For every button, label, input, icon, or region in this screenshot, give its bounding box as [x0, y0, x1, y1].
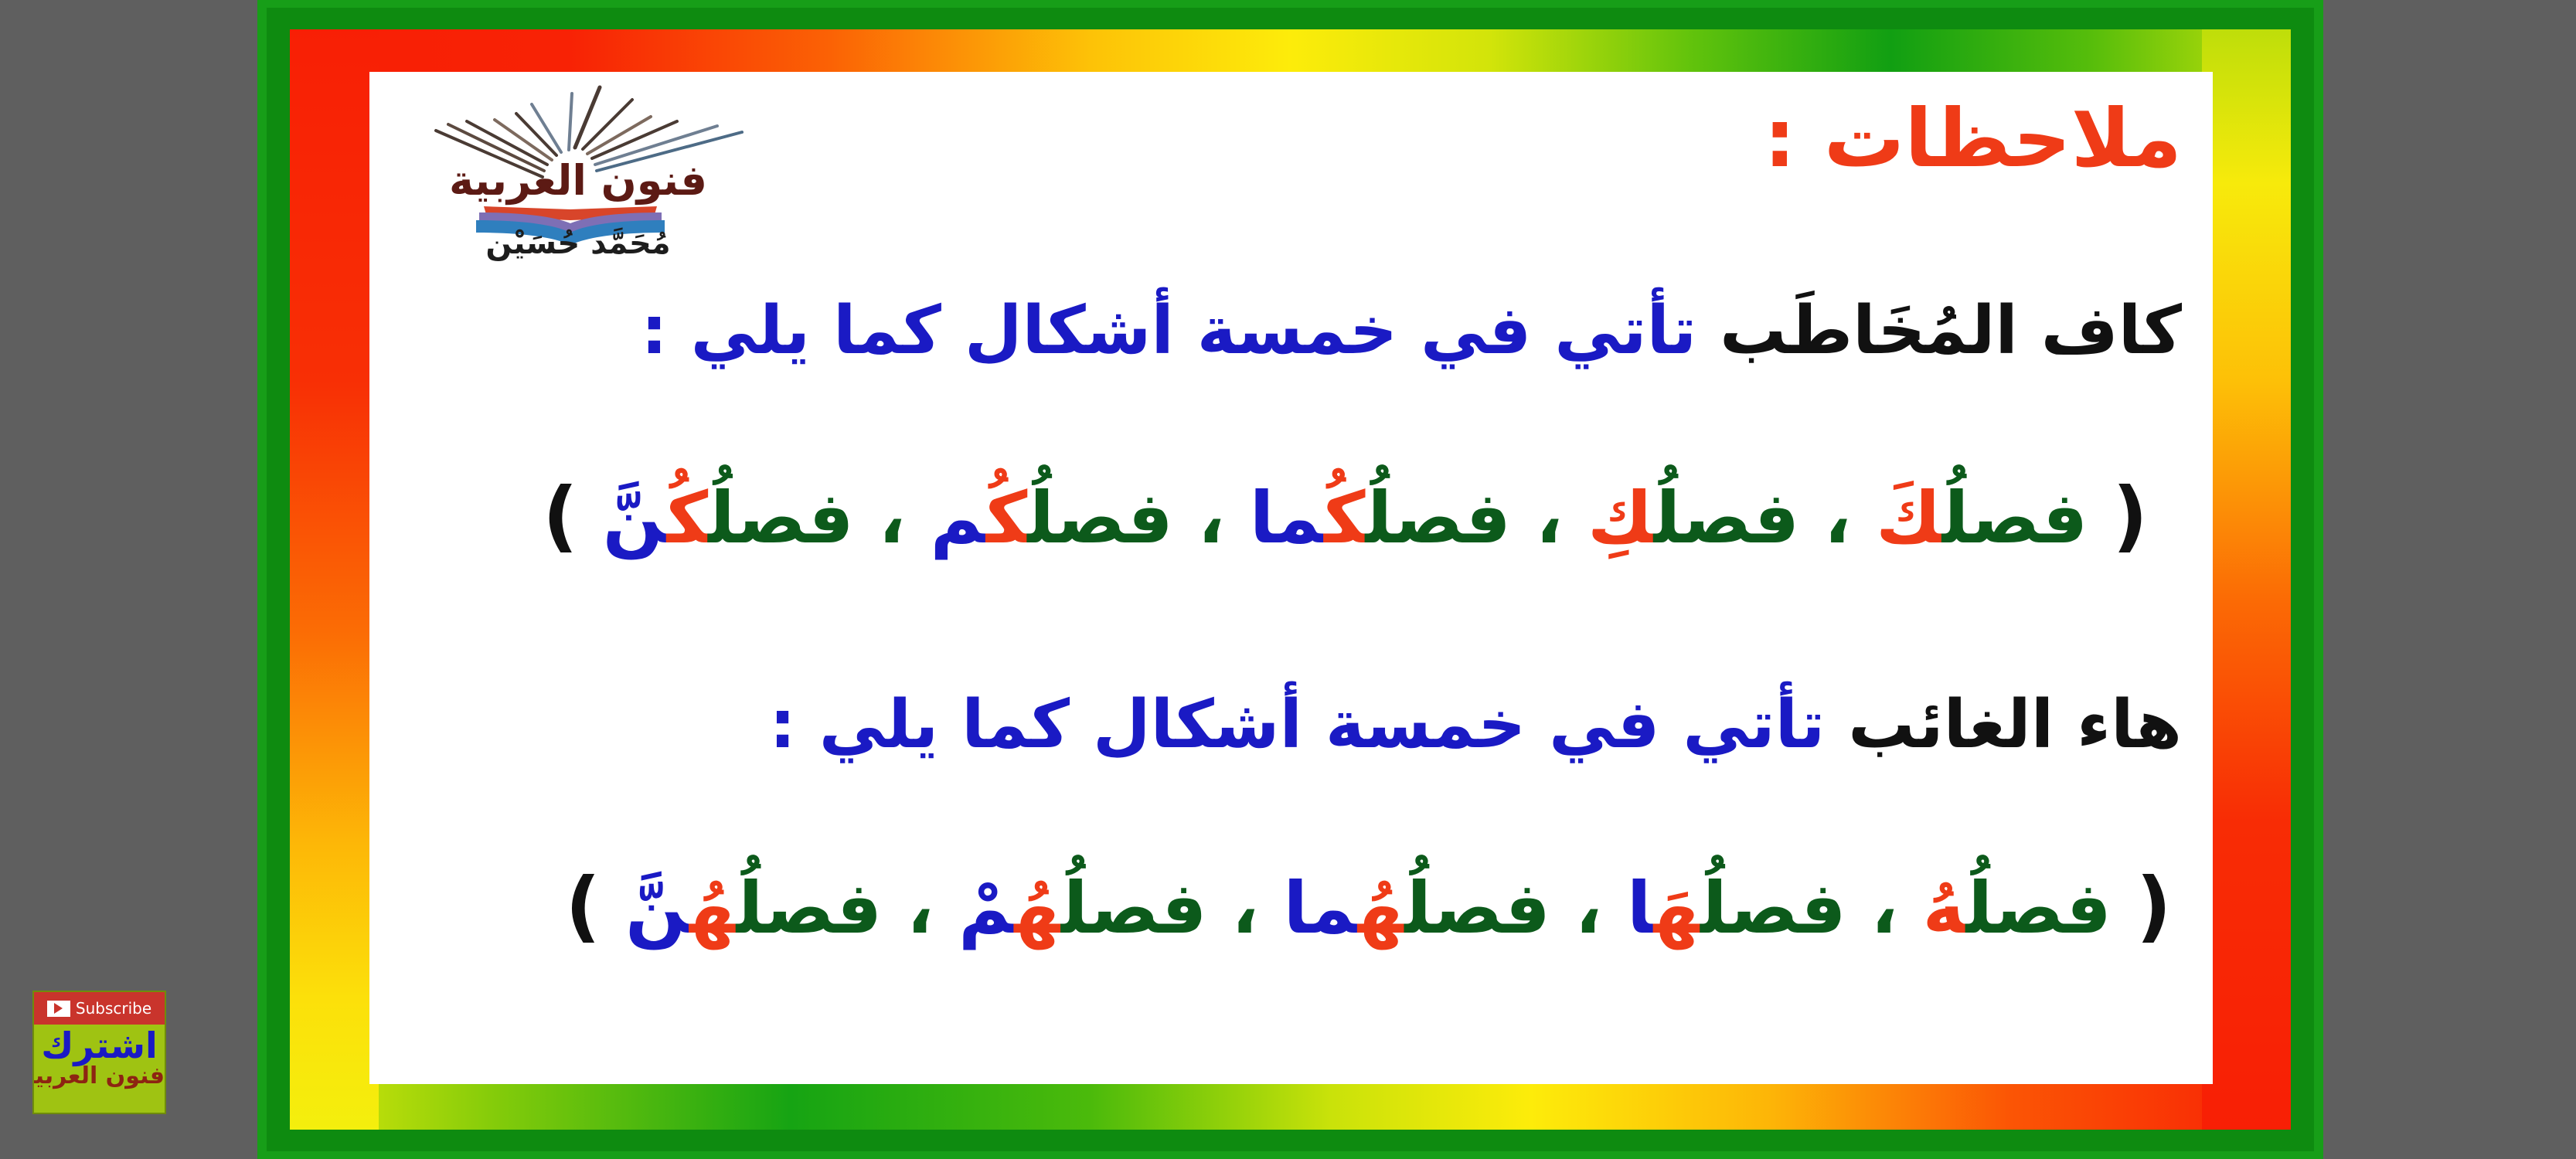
subscribe-header[interactable]: Subscribe	[34, 992, 165, 1025]
example-suffix: هُ	[689, 867, 737, 950]
examples-line-kaf: ( فصلُكَ ، فصلُكِ ، فصلُكُما ، فصلُكُم ،…	[509, 474, 2182, 559]
subscribe-badge[interactable]: Subscribe اشترك فنون العربية	[32, 991, 166, 1114]
page-title: ملاحظات :	[1764, 97, 2182, 181]
example-item: فصلُهُنَّ	[625, 867, 882, 950]
example-suffix: هَ	[1653, 867, 1700, 950]
gradient-band-right	[2202, 29, 2291, 1130]
example-suffix: هُ	[1358, 867, 1405, 950]
subscribe-arabic-label: اشترك	[34, 1028, 165, 1063]
example-tail: ما	[1283, 867, 1357, 950]
examples-line-haa: ( فصلُهُ ، فصلُهَا ، فصلُهُما ، فصلُهُمْ…	[555, 864, 2182, 949]
rule-line-kaf: كاف المُخَاطَب تأتي في خمسة أشكال كما يل…	[641, 294, 2182, 368]
example-suffix: كُ	[1324, 477, 1366, 559]
example-tail: م	[931, 477, 986, 559]
example-stem: فصلُ	[737, 867, 882, 950]
example-item: فصلُهُ	[1923, 867, 2112, 950]
example-item: فصلُهُمْ	[958, 867, 1206, 950]
example-tail: مْ	[958, 867, 1014, 950]
example-suffix: كِ	[1587, 477, 1654, 559]
example-stem: فصلُ	[1654, 477, 1799, 559]
brand-author-text: مُحَمَّد حُسَيْن	[393, 228, 764, 259]
example-separator: ،	[1824, 477, 1851, 559]
example-separator: ،	[1198, 477, 1225, 559]
example-suffix: كَ	[1876, 477, 1942, 559]
example-separator: ،	[907, 867, 934, 950]
rule-subject-haa: هاء الغائب	[1848, 686, 2182, 763]
sunburst-book-icon	[393, 76, 764, 285]
example-suffix: كُ	[667, 477, 709, 559]
example-tail: ا	[1627, 867, 1654, 950]
example-separator: ،	[1231, 867, 1258, 950]
example-item: فصلُكَ	[1876, 477, 2088, 559]
example-stem: فصلُ	[1700, 867, 1846, 950]
gradient-band-left	[290, 29, 379, 1130]
close-paren-kaf: )	[543, 471, 578, 561]
example-item: فصلُكِ	[1587, 477, 1799, 559]
example-separator: ،	[1871, 867, 1898, 950]
close-paren-haa: )	[565, 861, 601, 951]
example-suffix: كُ	[986, 477, 1028, 559]
example-separator: ،	[879, 477, 906, 559]
rule-subject-kaf: كاف المُخَاطَب	[1720, 292, 2182, 369]
example-separator: ،	[1536, 477, 1563, 559]
example-item: فصلُكُما	[1250, 477, 1511, 559]
example-separator: ،	[1575, 867, 1602, 950]
slide-stage: فنون العربية مُحَمَّد حُسَيْن ملاحظات : …	[0, 0, 2576, 1159]
subscribe-brand-label: فنون العربية	[34, 1065, 165, 1088]
example-suffix: هُ	[1014, 867, 1061, 950]
subscribe-english-label: Subscribe	[76, 999, 151, 1018]
example-item: فصلُهُما	[1283, 867, 1550, 950]
rule-line-haa: هاء الغائب تأتي في خمسة أشكال كما يلي :	[769, 688, 2182, 762]
example-item: فصلُكُم	[931, 477, 1173, 559]
example-stem: فصلُ	[1965, 867, 2111, 950]
lesson-content-card: فنون العربية مُحَمَّد حُسَيْن ملاحظات : …	[369, 72, 2213, 1084]
example-stem: فصلُ	[1942, 477, 2088, 559]
example-tail: نَّ	[603, 477, 667, 559]
example-stem: فصلُ	[1365, 477, 1510, 559]
example-item: فصلُهَا	[1627, 867, 1846, 950]
example-stem: فصلُ	[1404, 867, 1550, 950]
rule-predicate-haa: تأتي في خمسة أشكال كما يلي :	[769, 686, 1825, 763]
example-tail: ما	[1250, 477, 1324, 559]
youtube-play-icon	[47, 1001, 70, 1017]
example-suffix: هُ	[1923, 867, 1966, 950]
open-book-icon	[476, 206, 665, 245]
open-paren-kaf: (	[2112, 471, 2148, 561]
rule-predicate-kaf: تأتي في خمسة أشكال كما يلي :	[641, 292, 1696, 369]
open-paren-haa: (	[2136, 861, 2172, 951]
brand-logo-watermark: فنون العربية مُحَمَّد حُسَيْن	[393, 76, 764, 285]
example-tail: نَّ	[625, 867, 689, 950]
example-item: فصلُكُنَّ	[603, 477, 854, 559]
example-stem: فصلُ	[708, 477, 853, 559]
brand-logo-text: فنون العربية	[393, 160, 764, 202]
example-stem: فصلُ	[1027, 477, 1172, 559]
example-stem: فصلُ	[1061, 867, 1206, 950]
